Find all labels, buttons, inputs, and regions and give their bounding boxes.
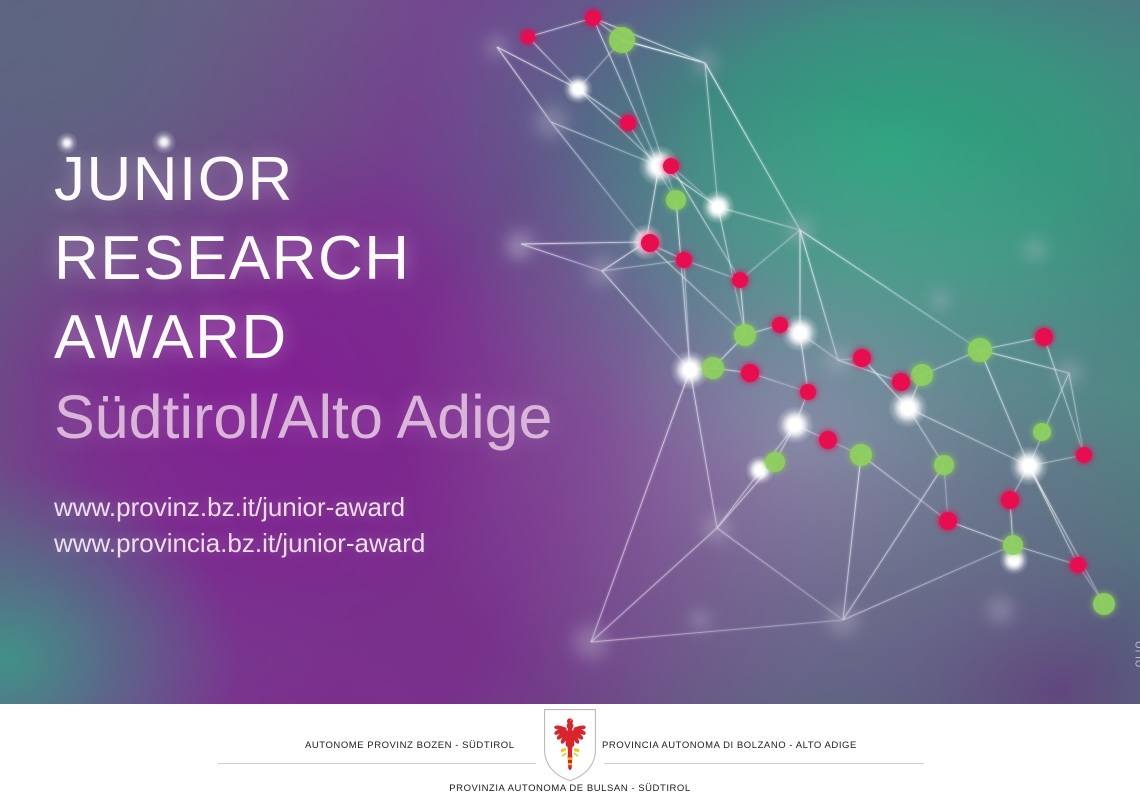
url-italian[interactable]: www.provincia.bz.it/junior-award [54,525,674,561]
footer-inner: AUTONOME PROVINZ BOZEN - SÜDTIROL PROVIN… [0,704,1140,806]
hero-banner: JUNIOR RESEARCH AWARD Südtirol/Alto Adig… [0,0,1140,704]
poster-canvas: JUNIOR RESEARCH AWARD Südtirol/Alto Adig… [0,0,1140,806]
url-german[interactable]: www.provinz.bz.it/junior-award [54,489,674,525]
side-code-label: OLIO [1134,640,1140,667]
footer-bar: AUTONOME PROVINZ BOZEN - SÜDTIROL PROVIN… [0,704,1140,806]
coat-of-arms-icon [543,708,597,782]
title-line-2: RESEARCH [54,219,674,298]
hero-text-block: JUNIOR RESEARCH AWARD Südtirol/Alto Adig… [54,140,674,561]
footer-text-ladin: PROVINZIA AUTONOMA DE BULSAN - SÜDTIROL [0,783,1140,794]
footer-divider-right [604,763,924,764]
title-line-1: JUNIOR [54,140,674,219]
subtitle-region: Südtirol/Alto Adige [54,379,674,455]
title-line-3: AWARD [54,298,674,377]
footer-text-german: AUTONOME PROVINZ BOZEN - SÜDTIROL [305,740,515,751]
footer-text-italian: PROVINCIA AUTONOMA DI BOLZANO - ALTO ADI… [602,740,857,751]
footer-divider-left [218,763,536,764]
url-list: www.provinz.bz.it/junior-award www.provi… [54,489,674,561]
